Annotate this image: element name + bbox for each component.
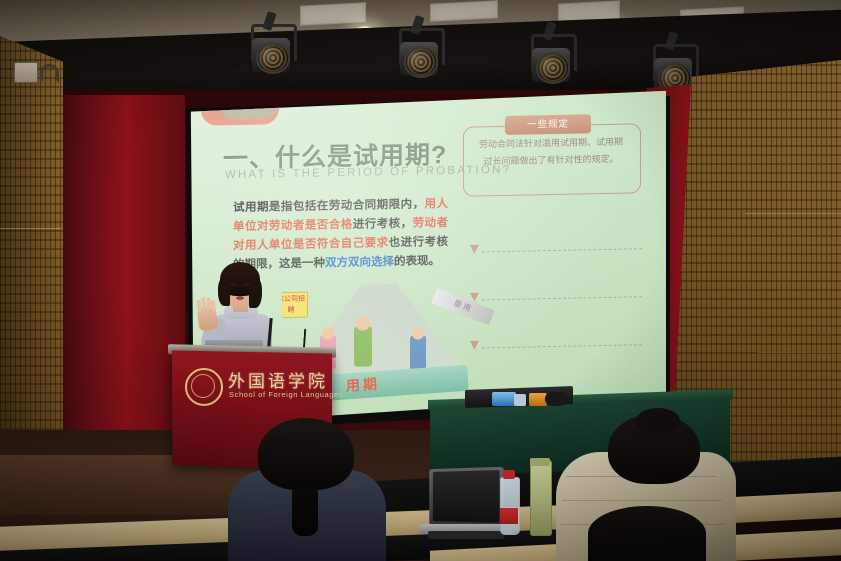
slide-bullet-row: ▼ <box>467 239 645 260</box>
cartoon-recruit-sign: 某公司招聘 <box>282 292 308 319</box>
bullet-dashed-rule <box>482 248 642 253</box>
water-bottle-cap[interactable] <box>503 470 515 479</box>
slide-body-text: 试用期是指包括在劳动合同期限内，用人单位对劳动者是否合格进行考核，劳动者对用人单… <box>233 195 448 275</box>
audience-laptop-screen[interactable] <box>433 470 500 523</box>
speaker-mouth <box>236 296 244 300</box>
blue-device-box[interactable] <box>492 392 516 406</box>
wall-hook-icon <box>40 64 59 83</box>
lecture-hall-photo: 一、什么是试用期? WHAT IS THE PERIOD OF PROBATIO… <box>0 0 841 561</box>
light-lens <box>536 52 570 84</box>
speaker-hair-side <box>218 278 230 306</box>
cartoon-runner <box>354 326 372 366</box>
dark-object[interactable] <box>545 392 567 406</box>
podium-name-en: School of Foreign Languages <box>229 390 343 399</box>
university-seal-inner <box>191 374 215 398</box>
ceiling-vent <box>430 0 498 22</box>
slide-card-tab-label: 一些规定 <box>505 114 591 135</box>
audience-person-hair <box>258 418 354 490</box>
speaker-eye <box>244 283 250 286</box>
thermos-cap[interactable] <box>530 458 550 466</box>
podium-name-cn: 外国语学院 <box>228 367 328 392</box>
wall-panel-seam <box>0 228 62 229</box>
audience-person-hair-bun <box>636 408 680 434</box>
bullet-dashed-rule <box>482 296 642 301</box>
wall-shading-left <box>0 36 63 466</box>
cartoon-track-label: 用期 <box>345 373 380 395</box>
ceiling-vent <box>300 2 366 25</box>
slide-body-seg: 的表现。 <box>394 255 440 268</box>
thermos-flask[interactable] <box>530 460 552 536</box>
cartoon-runner <box>410 335 426 371</box>
slide-card-text: 劳动合同法针对滥用试用期、试用期过长问题做出了有针对性的规定。 <box>475 134 627 171</box>
water-bottle[interactable] <box>500 477 520 535</box>
wall-switch-plate[interactable] <box>14 62 38 83</box>
cartoon-ribbon: 录用 <box>431 288 494 325</box>
water-bottle-label <box>500 508 518 524</box>
slide-body-seg-bold: 试用期 <box>233 201 269 214</box>
audience-laptop-trackpad[interactable] <box>428 531 504 539</box>
stage-par-light <box>248 18 294 78</box>
audience-person-hair <box>588 506 706 561</box>
stage-par-light <box>396 22 442 82</box>
light-lens <box>404 46 438 78</box>
speaker-hand <box>196 305 218 331</box>
wall-panel-seam <box>745 213 841 214</box>
jacket-seam <box>562 500 722 501</box>
grey-device-box[interactable] <box>514 394 526 406</box>
chevron-down-icon: ▼ <box>467 242 482 256</box>
speaker-eye <box>230 283 236 286</box>
slide-body-seg: 进行考核， <box>353 218 413 231</box>
speaker-hair-side <box>249 278 262 308</box>
light-lens <box>256 42 290 74</box>
wall-panel-seam <box>757 352 841 353</box>
stage-par-light <box>528 28 574 88</box>
slide-body-seg-blue: 双方双向选择 <box>325 256 394 269</box>
slide-body-seg: 是指包括在劳动合同期限内， <box>269 198 425 213</box>
bullet-dashed-rule <box>482 344 642 349</box>
